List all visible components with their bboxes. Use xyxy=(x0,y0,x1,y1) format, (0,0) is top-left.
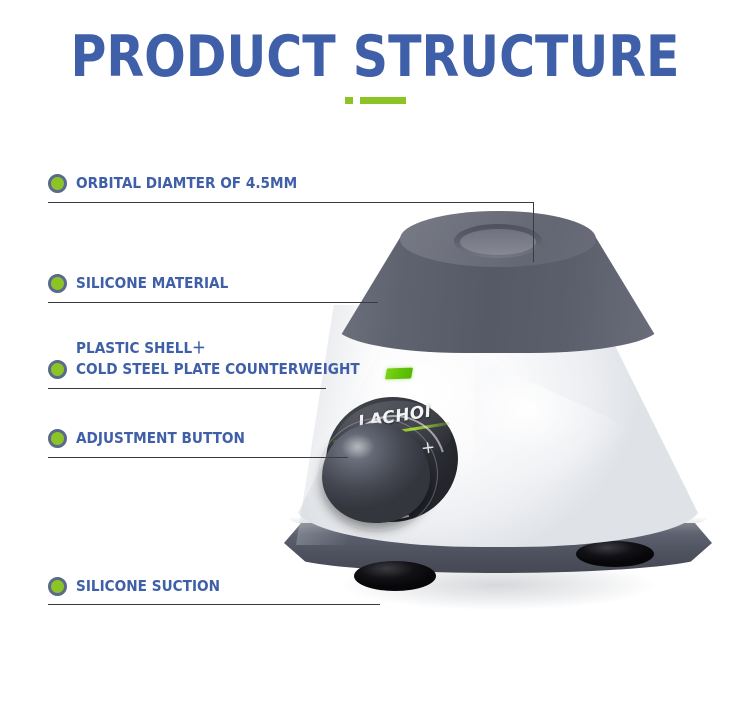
bullet-icon xyxy=(48,360,67,379)
product-structure-infographic: PRODUCT STRUCTURE LACHOI + ORBITAL D xyxy=(0,0,750,713)
suction-foot-right xyxy=(576,541,654,567)
callout-label-text: ORBITAL DIAMTER OF 4.5MM xyxy=(76,175,297,192)
callout-underline-silicone xyxy=(48,302,378,303)
callout-label-text: SILICONE SUCTION xyxy=(76,578,220,595)
callout-label-text-line2: COLD STEEL PLATE COUNTERWEIGHT xyxy=(76,361,360,378)
bullet-icon xyxy=(48,429,67,448)
divider-dot xyxy=(345,97,353,104)
title-divider xyxy=(0,97,750,104)
knob-highlight xyxy=(338,433,382,467)
suction-foot-left xyxy=(354,561,436,591)
callout-label-text: SILICONE MATERIAL xyxy=(76,275,228,292)
leader-line-orbital xyxy=(533,202,534,262)
callout-adjustment-button: ADJUSTMENT BUTTON xyxy=(48,427,268,449)
callout-underline-suction xyxy=(48,604,380,605)
orbital-well-inner xyxy=(460,229,536,255)
callout-label-text: ADJUSTMENT BUTTON xyxy=(76,430,245,447)
callout-underline-plastic-shell xyxy=(48,388,326,389)
callout-underline-adjustment xyxy=(48,457,348,458)
callout-silicone-suction: SILICONE SUCTION xyxy=(48,575,240,597)
divider-bar xyxy=(360,97,406,104)
product-illustration: LACHOI + xyxy=(258,205,738,635)
callout-silicone-material: SILICONE MATERIAL xyxy=(48,272,249,294)
bullet-icon xyxy=(48,174,67,193)
callout-orbital-diameter: ORBITAL DIAMTER OF 4.5MM xyxy=(48,172,327,194)
callout-plastic-shell: PLASTIC SHELL＋ COLD STEEL PLATE COUNTERW… xyxy=(48,338,398,380)
bullet-icon xyxy=(48,577,67,596)
bullet-icon xyxy=(48,274,67,293)
callout-underline-orbital xyxy=(48,202,534,203)
page-title: PRODUCT STRUCTURE xyxy=(53,26,698,88)
callout-label-text-line1: PLASTIC SHELL＋ xyxy=(76,340,206,357)
